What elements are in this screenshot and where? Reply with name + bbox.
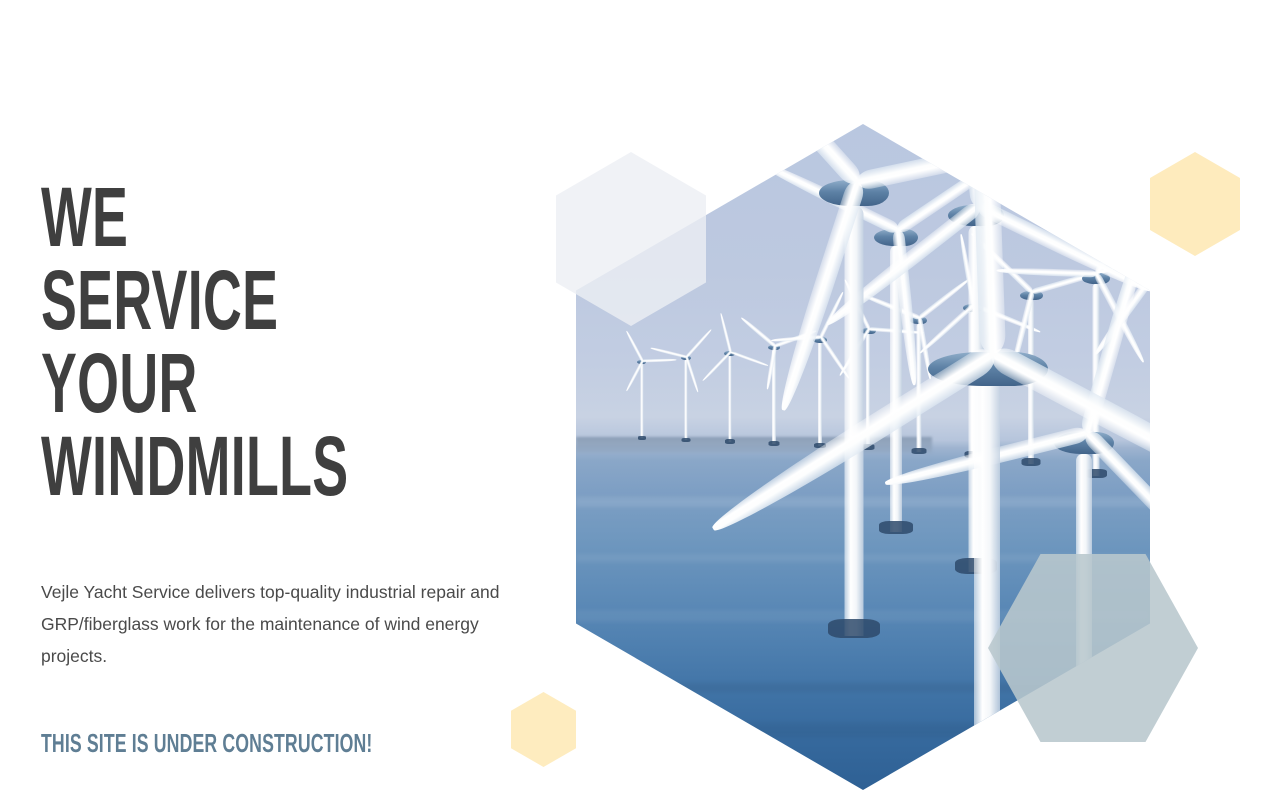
wind-turbine-foreground: [974, 382, 1000, 790]
turbine-blade: [719, 313, 732, 353]
turbine-base: [769, 441, 780, 446]
turbine-blade: [856, 124, 1095, 191]
turbine-base: [911, 448, 926, 454]
turbine-base: [1022, 458, 1041, 466]
turbine-blade: [730, 351, 769, 367]
landing-page: We Service Your Windmills Vejle Yacht Se…: [0, 0, 1280, 800]
wind-turbine-mid: [890, 246, 902, 532]
turbine-tower: [728, 356, 731, 442]
turbine-blade: [685, 357, 699, 393]
turbine-tower: [684, 360, 687, 440]
turbine-base: [681, 438, 690, 442]
turbine-base: [954, 770, 1020, 790]
wind-turbine-distant: [818, 342, 822, 446]
turbine-blade: [690, 124, 865, 188]
turbine-tower: [818, 342, 822, 446]
hexagon-yellow-top-right: [1150, 152, 1240, 256]
turbine-base: [638, 436, 646, 440]
turbine-blade: [685, 328, 712, 358]
turbine-blade: [740, 316, 776, 347]
wind-turbine-distant: [772, 350, 776, 444]
hero-text-column: We Service Your Windmills Vejle Yacht Se…: [41, 0, 511, 800]
turbine-blade: [625, 330, 644, 361]
turbine-blade: [650, 347, 687, 359]
water-highlight-band: [576, 497, 1150, 507]
hexagon-yellow-bottom-left: [511, 692, 576, 767]
turbine-tower: [640, 364, 643, 438]
wind-turbine-distant: [640, 364, 643, 438]
turbine-base: [879, 521, 913, 534]
wind-turbine-distant: [684, 360, 687, 440]
page-title: We Service Your Windmills: [41, 176, 342, 509]
turbine-blade: [642, 358, 676, 362]
wind-turbine-distant: [728, 356, 731, 442]
turbine-tower: [974, 382, 1000, 790]
turbine-blade: [1094, 187, 1150, 276]
turbine-blade: [1118, 137, 1150, 255]
turbine-base: [828, 619, 880, 638]
hero-description: Vejle Yacht Service delivers top-quality…: [41, 576, 501, 672]
under-construction-notice: This site is under construction!: [41, 730, 372, 756]
turbine-base: [1062, 775, 1106, 790]
turbine-base: [725, 439, 735, 444]
